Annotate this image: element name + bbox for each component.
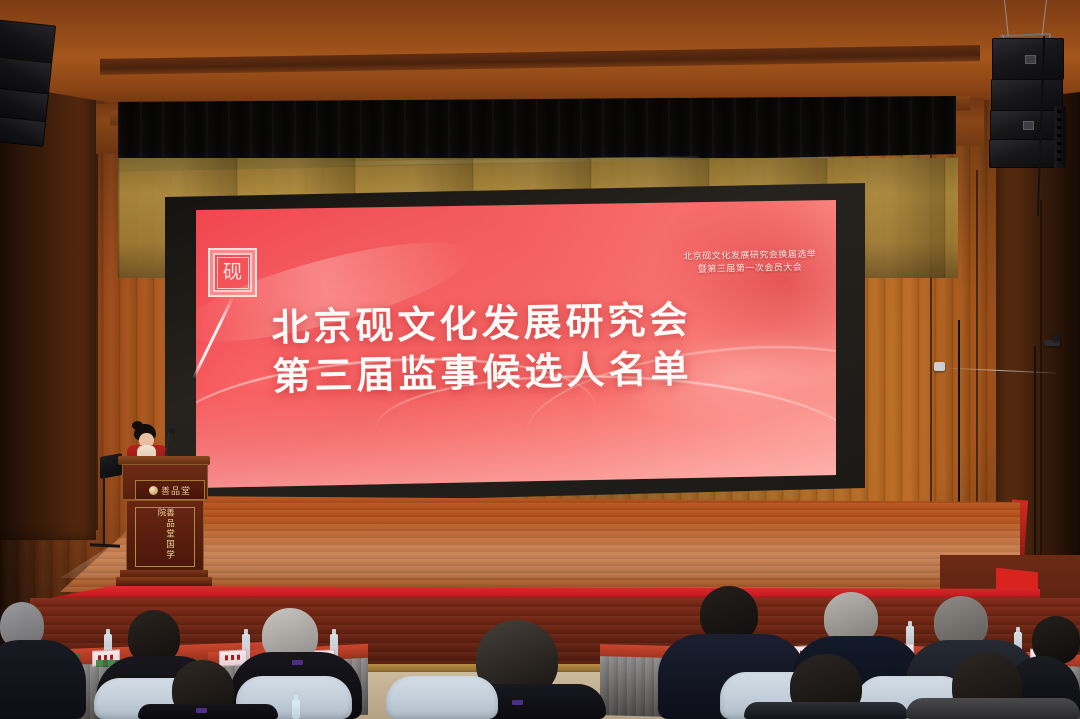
audience-chair	[386, 676, 498, 719]
society-seal-logo: 砚	[208, 248, 257, 297]
speaker-badge	[1023, 121, 1034, 130]
podium-plaque: 善品堂	[135, 480, 205, 500]
monitor-stand	[103, 475, 105, 547]
speaker-vent	[1057, 158, 1062, 161]
speaker-cabinet	[0, 19, 56, 64]
slide-bottom-glow	[196, 392, 836, 488]
audience-shoulders	[0, 640, 86, 719]
lanyard-badge	[196, 708, 207, 713]
slide-title: 北京砚文化发展研究会 第三届监事候选人名单	[271, 293, 763, 403]
cable-run	[1034, 346, 1036, 586]
podium-emblem-icon	[149, 486, 158, 495]
line-array-speaker-right	[988, 38, 1066, 166]
speaker-vent	[1057, 110, 1062, 113]
audience-shoulders	[906, 698, 1080, 719]
speaker-vent	[1057, 118, 1062, 121]
speaker-vent	[1057, 142, 1062, 145]
wall-light-head	[1052, 334, 1060, 341]
speaker-vent	[1057, 134, 1062, 137]
podium-plaque-text: 善品堂	[161, 484, 191, 497]
audience-shoulders	[744, 702, 908, 719]
audience-shoulders	[138, 704, 278, 719]
lanyard-badge	[292, 660, 303, 665]
podium-front-panel: 善品堂国学院	[126, 500, 204, 574]
wall-seam	[96, 110, 98, 530]
slide-kicker-text: 北京砚文化发展研究会换届选举 暨第三届第一次会员大会	[660, 248, 840, 278]
lanyard-badge	[512, 700, 523, 705]
speaking-podium: 善品堂 善品堂国学院	[118, 456, 210, 586]
conference-hall-photo: 砚 北京砚文化发展研究会换届选举 暨第三届第一次会员大会 北京砚文化发展研究会 …	[0, 0, 1080, 719]
podium-upper-panel: 善品堂	[122, 464, 208, 500]
speaker-badge	[1025, 55, 1036, 64]
speaker-cabinet	[989, 139, 1061, 168]
podium-front-frame: 善品堂国学院	[135, 507, 195, 567]
wall-bracket-fixture	[934, 362, 945, 371]
speaker-cabinet	[991, 79, 1063, 111]
seal-character: 砚	[217, 257, 249, 289]
podium-base-lower	[116, 577, 212, 586]
wall-seam	[1040, 200, 1042, 580]
podium-front-text: 善品堂国学院	[157, 508, 174, 566]
speaker-vent	[1057, 150, 1062, 153]
slide-title-line-2: 第三届监事候选人名单	[272, 343, 763, 404]
water-bottle	[292, 700, 300, 719]
speaker-cabinet	[992, 38, 1064, 80]
name-card-text	[225, 655, 241, 661]
podium-microphone	[169, 428, 175, 434]
speaker-vent	[1057, 126, 1062, 129]
wall-light-fixture	[1044, 340, 1060, 346]
speaker-cabinet	[990, 110, 1062, 140]
